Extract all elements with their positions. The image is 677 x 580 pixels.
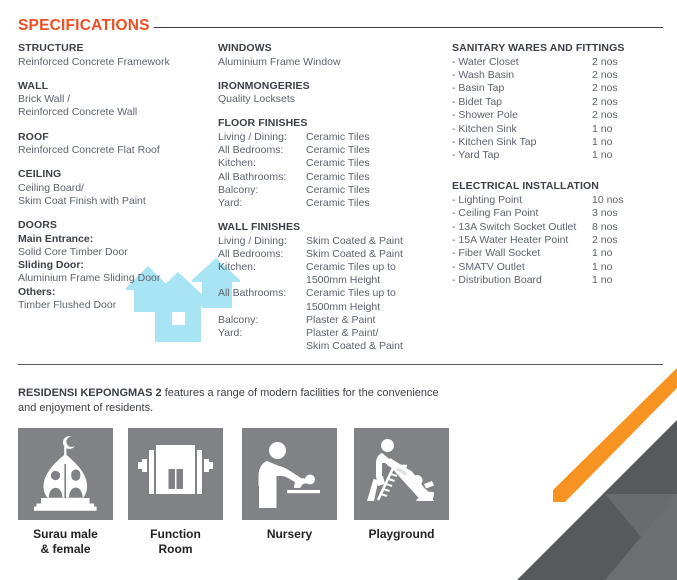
sanitary-item: - Bidet Tap 2 nos — [452, 96, 670, 109]
facility-label: Surau male & female — [18, 527, 113, 556]
row-value: Ceramic Tiles — [306, 157, 443, 170]
item-qty: 1 no — [592, 247, 670, 260]
floor-finish-row: Kitchen: Ceramic Tiles — [218, 157, 443, 170]
item-qty: 2 nos — [592, 69, 670, 82]
item-qty: 8 nos — [592, 221, 670, 234]
surau-icon — [18, 428, 113, 520]
item-name: - Lighting Point — [452, 194, 592, 207]
spec-block-electrical-installation: ELECTRICAL INSTALLATION - Lighting Point… — [452, 180, 670, 287]
item-name: - Shower Pole — [452, 109, 592, 122]
facility-label-line2: Room — [159, 542, 193, 556]
item-name: - 13A Switch Socket Outlet — [452, 221, 592, 234]
block-line: Aluminium Frame Window — [218, 56, 443, 69]
row-label: All Bedrooms: — [218, 144, 306, 157]
item-name: - Kitchen Sink — [452, 123, 592, 136]
spec-block-doors: DOORS Main Entrance: Solid Core Timber D… — [18, 219, 214, 312]
block-heading: FLOOR FINISHES — [218, 117, 443, 131]
item-name: - Water Closet — [452, 56, 592, 69]
row-value: Ceramic Tiles — [306, 197, 443, 210]
block-line: Reinforced Concrete Wall — [18, 106, 214, 119]
corner-decoration — [517, 368, 677, 580]
block-line: Quality Locksets — [218, 93, 443, 106]
spec-block-ceiling: CEILING Ceiling Board/ Skim Coat Finish … — [18, 168, 214, 208]
item-qty: 1 no — [592, 123, 670, 136]
column-structure: STRUCTURE Reinforced Concrete Framework … — [18, 42, 214, 323]
facilities-intro-text: RESIDENSI KEPONGMAS 2 features a range o… — [18, 386, 448, 416]
row-label: All Bathrooms: — [218, 171, 306, 184]
block-heading: IRONMONGERIES — [218, 80, 443, 94]
facility-label: Playground — [354, 527, 449, 542]
electrical-item: - Ceiling Fan Point 3 nos — [452, 207, 670, 220]
row-value: Plaster & Paint/ — [306, 327, 378, 339]
row-label: Kitchen: — [218, 261, 306, 287]
spec-block-sanitary-wares: SANITARY WARES AND FITTINGS - Water Clos… — [452, 42, 670, 163]
facility-label-line1: Function — [150, 527, 201, 541]
row-value-cont: 1500mm Height — [306, 301, 443, 314]
block-line: Timber Flushed Door — [18, 299, 214, 312]
floor-finish-row: Yard: Ceramic Tiles — [218, 197, 443, 210]
function-room-icon — [128, 428, 223, 520]
sanitary-item: - Kitchen Sink 1 no — [452, 123, 670, 136]
item-qty: 2 nos — [592, 56, 670, 69]
spec-block-windows: WINDOWS Aluminium Frame Window — [218, 42, 443, 69]
block-heading: CEILING — [18, 168, 214, 182]
spec-block-structure: STRUCTURE Reinforced Concrete Framework — [18, 42, 214, 69]
nursery-icon — [242, 428, 337, 520]
block-line: Solid Core Timber Door — [18, 246, 214, 259]
electrical-item: - Fiber Wall Socket 1 no — [452, 247, 670, 260]
item-qty: 2 nos — [592, 82, 670, 95]
item-name: - Wash Basin — [452, 69, 592, 82]
specifications-page: SPECIFICATIONS STRUCTURE Reinforced Conc… — [0, 0, 677, 580]
row-label: Living / Dining: — [218, 131, 306, 144]
sanitary-item: - Water Closet 2 nos — [452, 56, 670, 69]
sanitary-item: - Shower Pole 2 nos — [452, 109, 670, 122]
block-heading: WALL — [18, 80, 214, 94]
page-title: SPECIFICATIONS — [18, 17, 150, 35]
facility-label: Function Room — [128, 527, 223, 556]
item-name: - Kitchen Sink Tap — [452, 136, 592, 149]
item-name: - Basin Tap — [452, 82, 592, 95]
row-value: Ceramic Tiles — [306, 131, 443, 144]
item-qty: 2 nos — [592, 96, 670, 109]
block-line: Aluminium Frame Sliding Door — [18, 272, 214, 285]
block-heading: WALL FINISHES — [218, 221, 443, 235]
item-qty: 1 no — [592, 261, 670, 274]
electrical-item: - 15A Water Heater Point 2 nos — [452, 234, 670, 247]
door-subheading-sliding-door: Sliding Door: — [18, 259, 214, 272]
block-heading: ROOF — [18, 131, 214, 145]
item-name: - Distribution Board — [452, 274, 592, 287]
spec-block-wall-finishes: WALL FINISHES Living / Dining: Skim Coat… — [218, 221, 443, 353]
item-qty: 10 nos — [592, 194, 670, 207]
row-value: Skim Coated & Paint — [306, 235, 443, 248]
sanitary-item: - Kitchen Sink Tap 1 no — [452, 136, 670, 149]
block-line: Ceiling Board/ — [18, 182, 214, 195]
item-name: - SMATV Outlet — [452, 261, 592, 274]
spec-block-wall: WALL Brick Wall / Reinforced Concrete Wa… — [18, 80, 214, 120]
item-qty: 1 no — [592, 149, 670, 162]
floor-finish-row: Balcony: Ceramic Tiles — [218, 184, 443, 197]
row-value: Ceramic Tiles up to — [306, 287, 396, 299]
row-label: Balcony: — [218, 314, 306, 327]
facility-label-line1: Playground — [368, 527, 434, 541]
row-label: Living / Dining: — [218, 235, 306, 248]
row-label: All Bathrooms: — [218, 287, 306, 313]
block-heading: STRUCTURE — [18, 42, 214, 56]
electrical-item: - 13A Switch Socket Outlet 8 nos — [452, 221, 670, 234]
electrical-item: - Lighting Point 10 nos — [452, 194, 670, 207]
item-name: - Ceiling Fan Point — [452, 207, 592, 220]
facility-label-line1: Surau male — [33, 527, 98, 541]
door-subheading-main-entrance: Main Entrance: — [18, 233, 214, 246]
item-name: - Yard Tap — [452, 149, 592, 162]
facility-label-line1: Nursery — [267, 527, 312, 541]
wall-finish-row: All Bathrooms: Ceramic Tiles up to 1500m… — [218, 287, 443, 313]
block-heading: DOORS — [18, 219, 214, 233]
wall-finish-row: Kitchen: Ceramic Tiles up to 1500mm Heig… — [218, 261, 443, 287]
floor-finish-row: Living / Dining: Ceramic Tiles — [218, 131, 443, 144]
row-value: Plaster & Paint — [306, 314, 443, 327]
block-line: Skim Coat Finish with Paint — [18, 195, 214, 208]
row-label: Balcony: — [218, 184, 306, 197]
facility-label-line2: & female — [40, 542, 90, 556]
wall-finish-row: Balcony: Plaster & Paint — [218, 314, 443, 327]
facility-item-function-room[interactable]: Function Room — [128, 428, 223, 556]
row-label: All Bedrooms: — [218, 248, 306, 261]
specifications-columns: STRUCTURE Reinforced Concrete Framework … — [0, 42, 677, 347]
sanitary-item: - Basin Tap 2 nos — [452, 82, 670, 95]
wall-finish-row: Yard: Plaster & Paint/ Skim Coated & Pai… — [218, 327, 443, 353]
row-label: Yard: — [218, 197, 306, 210]
electrical-item: - SMATV Outlet 1 no — [452, 261, 670, 274]
specifications-header: SPECIFICATIONS — [18, 16, 663, 36]
facility-label: Nursery — [242, 527, 337, 542]
spec-block-ironmongeries: IRONMONGERIES Quality Locksets — [218, 80, 443, 107]
spec-block-floor-finishes: FLOOR FINISHES Living / Dining: Ceramic … — [218, 117, 443, 210]
block-heading: SANITARY WARES AND FITTINGS — [452, 42, 670, 56]
column-fittings: SANITARY WARES AND FITTINGS - Water Clos… — [452, 42, 670, 299]
electrical-item: - Distribution Board 1 no — [452, 274, 670, 287]
header-divider-rule — [154, 27, 663, 28]
item-name: - Fiber Wall Socket — [452, 247, 592, 260]
facilities-list: Surau male & female — [18, 428, 468, 568]
column-finishes: WINDOWS Aluminium Frame Window IRONMONGE… — [218, 42, 443, 364]
door-subheading-others: Others: — [18, 286, 214, 299]
facility-item-playground[interactable]: Playground — [354, 428, 449, 542]
facility-item-surau[interactable]: Surau male & female — [18, 428, 113, 556]
item-qty: 3 nos — [592, 207, 670, 220]
spec-block-roof: ROOF Reinforced Concrete Flat Roof — [18, 131, 214, 158]
sanitary-item: - Yard Tap 1 no — [452, 149, 670, 162]
item-qty: 1 no — [592, 136, 670, 149]
row-value: Ceramic Tiles — [306, 184, 443, 197]
project-name: RESIDENSI KEPONGMAS 2 — [18, 387, 162, 399]
row-value: Ceramic Tiles — [306, 144, 443, 157]
sanitary-item: - Wash Basin 2 nos — [452, 69, 670, 82]
row-value: Skim Coated & Paint — [306, 248, 443, 261]
block-line: Reinforced Concrete Framework — [18, 56, 214, 69]
row-value-cont: Skim Coated & Paint — [306, 340, 443, 353]
row-value: Ceramic Tiles — [306, 171, 443, 184]
block-heading: ELECTRICAL INSTALLATION — [452, 180, 670, 194]
item-name: - 15A Water Heater Point — [452, 234, 592, 247]
item-qty: 2 nos — [592, 234, 670, 247]
wall-finish-row: All Bedrooms: Skim Coated & Paint — [218, 248, 443, 261]
floor-finish-row: All Bedrooms: Ceramic Tiles — [218, 144, 443, 157]
block-heading: WINDOWS — [218, 42, 443, 56]
block-line: Brick Wall / — [18, 93, 214, 106]
row-label: Yard: — [218, 327, 306, 353]
item-name: - Bidet Tap — [452, 96, 592, 109]
row-value: Ceramic Tiles up to — [306, 261, 396, 273]
facility-item-nursery[interactable]: Nursery — [242, 428, 337, 542]
playground-icon — [354, 428, 449, 520]
wall-finish-row: Living / Dining: Skim Coated & Paint — [218, 235, 443, 248]
item-qty: 2 nos — [592, 109, 670, 122]
row-label: Kitchen: — [218, 157, 306, 170]
floor-finish-row: All Bathrooms: Ceramic Tiles — [218, 171, 443, 184]
block-line: Reinforced Concrete Flat Roof — [18, 144, 214, 157]
item-qty: 1 no — [592, 274, 670, 287]
row-value-cont: 1500mm Height — [306, 274, 443, 287]
